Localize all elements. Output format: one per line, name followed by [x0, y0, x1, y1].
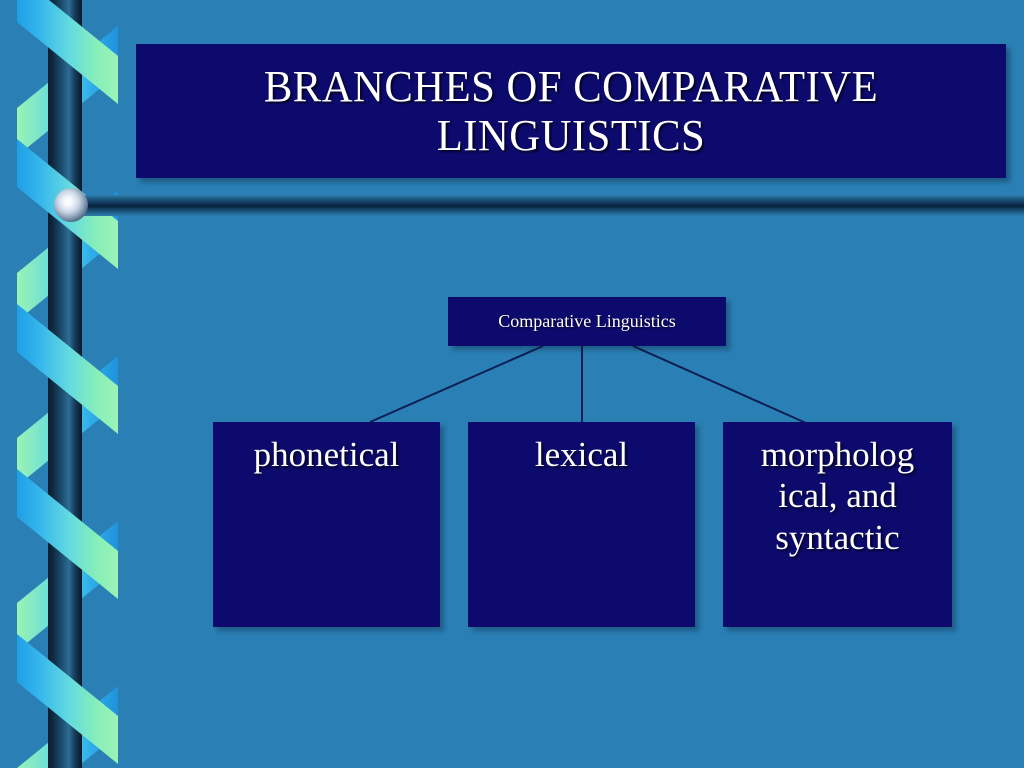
node-morphological-syntactic[interactable]: morpholog ical, and syntactic [723, 422, 952, 627]
connector-root-to-phonetical [370, 346, 543, 422]
node-lexical[interactable]: lexical [468, 422, 695, 627]
horizontal-divider-bar [62, 195, 1024, 216]
node-root-label: Comparative Linguistics [498, 312, 675, 332]
glowing-sphere-bead [54, 188, 88, 222]
node-morphological-line-3: syntactic [723, 517, 952, 558]
node-morphological-line-1: morpholog [723, 434, 952, 475]
ribbon-spiral-ornament [0, 0, 140, 768]
node-lexical-label: lexical [468, 434, 695, 475]
title-banner: BRANCHES OF COMPARATIVE LINGUISTICS [136, 44, 1006, 178]
node-morphological-line-2: ical, and [723, 475, 952, 516]
ribbon-ornament-graphic [0, 0, 140, 768]
node-phonetical[interactable]: phonetical [213, 422, 440, 627]
slide-canvas: BRANCHES OF COMPARATIVE LINGUISTICS Comp… [0, 0, 1024, 768]
connector-root-to-morphological [633, 346, 806, 423]
node-phonetical-label: phonetical [213, 434, 440, 475]
page-title: BRANCHES OF COMPARATIVE LINGUISTICS [174, 62, 967, 161]
node-comparative-linguistics[interactable]: Comparative Linguistics [448, 297, 726, 346]
